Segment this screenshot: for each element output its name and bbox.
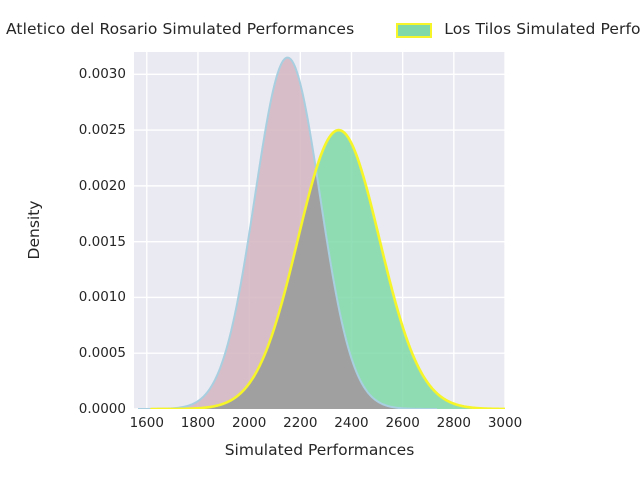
y-axis-label: Density xyxy=(25,201,43,260)
density-plot-figure: 0.00000.00050.00100.00150.00200.00250.00… xyxy=(0,0,640,480)
figure-root: Atletico del Rosario Simulated Performan… xyxy=(0,0,640,480)
x-axis-tick-labels: 16001800200022002400260028003000 xyxy=(0,0,640,480)
y-axis-label-holder: Density xyxy=(34,230,54,250)
x-axis-label: Simulated Performances xyxy=(134,441,505,459)
x-tick-label: 3000 xyxy=(465,415,545,431)
